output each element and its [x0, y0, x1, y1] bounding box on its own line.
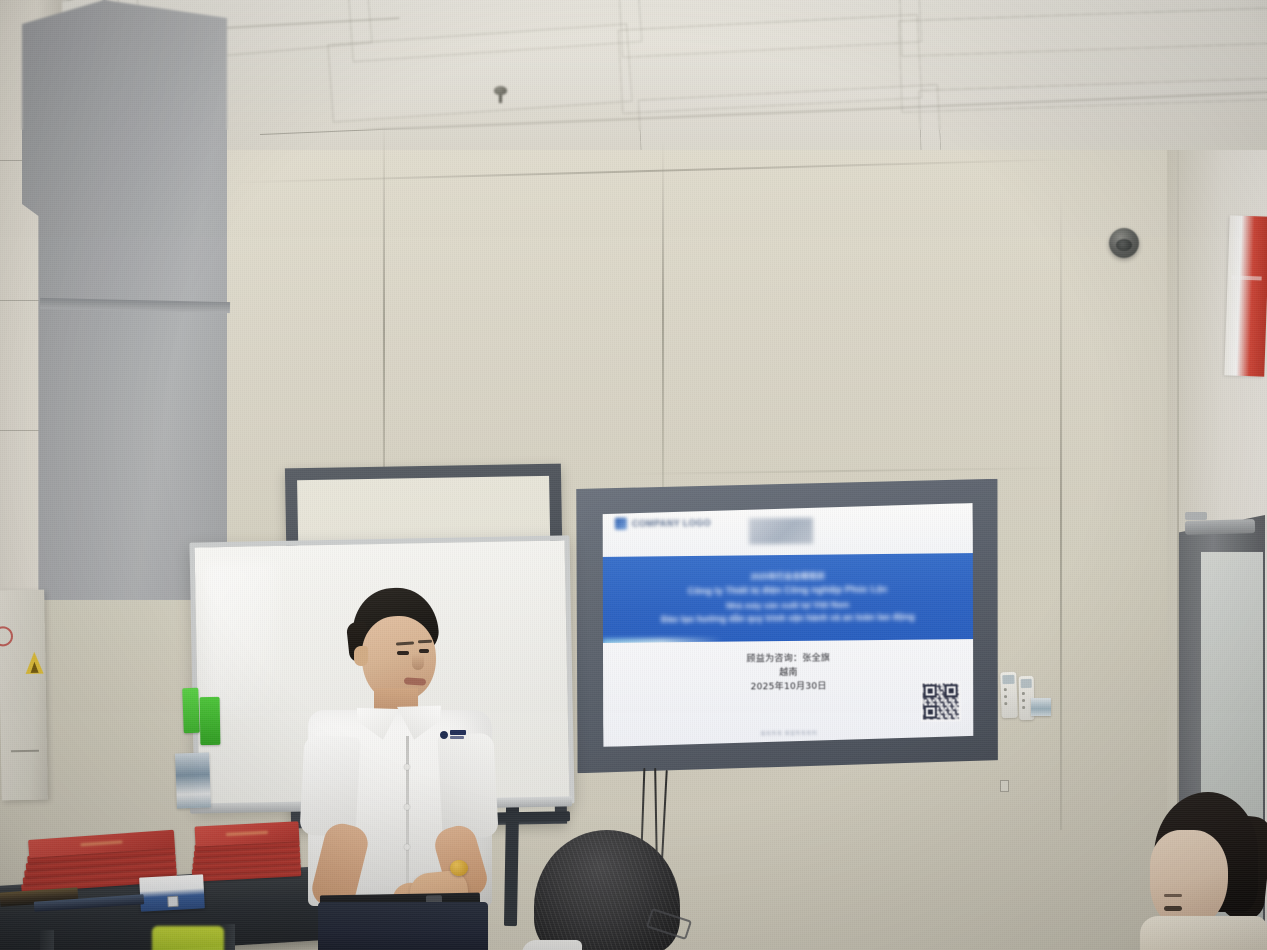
- wall-seam: [1060, 190, 1062, 830]
- presenter-eye: [397, 651, 409, 655]
- sprinkler-head: [494, 86, 507, 103]
- wall-poster: [1224, 215, 1267, 376]
- green-magnet[interactable]: [182, 688, 200, 734]
- slide-footer-note: 版权所有 保留所有权利: [603, 728, 975, 739]
- slide-location-line: 越南: [779, 667, 798, 681]
- attendee-right-eye: [1164, 906, 1182, 911]
- attendee-right-face: [1150, 830, 1228, 926]
- door-closer: [1185, 519, 1255, 535]
- ac-remote[interactable]: [1000, 672, 1018, 719]
- slide-body: 顾益为咨询：张全旗 越南 2025年10月30日 版权所有 保留所有权利: [602, 639, 975, 747]
- presenter-eye: [419, 649, 429, 653]
- green-magnet[interactable]: [200, 697, 221, 745]
- attendee-center: [522, 830, 692, 950]
- whiteboard-glare: [205, 562, 278, 713]
- slide-date-line: 2025年10月30日: [751, 680, 827, 695]
- slide-presenter-line: 顾益为咨询：张全旗: [746, 653, 830, 668]
- binder-clip: [167, 895, 179, 907]
- presenter-nose: [412, 654, 424, 670]
- red-marker-icon: [0, 626, 13, 646]
- table-leg: [40, 930, 54, 950]
- presenter-mouth: [404, 677, 426, 686]
- presenter-sleeve-right: [437, 733, 498, 840]
- presenter-brow: [418, 640, 432, 643]
- slide-banner-line-2: Công ty Thiết bị điện Công nghiệp Phúc L…: [688, 584, 888, 598]
- white-blue-binder[interactable]: [139, 874, 205, 911]
- wall-mounted-display[interactable]: COMPANY LOGO 2025年行业合规培训 Công ty Thiết b…: [574, 479, 1000, 773]
- shirt-button: [404, 764, 410, 770]
- slide-banner-line-1: 2025年行业合规培训: [751, 571, 825, 582]
- display-screen[interactable]: COMPANY LOGO 2025年行业合规培训 Công ty Thiết b…: [601, 503, 975, 747]
- attendee-right-brow: [1164, 894, 1182, 897]
- panel-slit: [11, 750, 39, 752]
- attendee-right-top: [1140, 916, 1267, 950]
- qr-code: [921, 681, 961, 721]
- shirt-button: [404, 804, 410, 810]
- electrical-box: [0, 590, 48, 801]
- dome-security-camera: [1109, 228, 1139, 258]
- slide-logo: COMPANY LOGO: [615, 517, 711, 530]
- green-bag: [152, 926, 224, 950]
- slide-title-banner: 2025年行业合规培训 Công ty Thiết bị điện Công n…: [601, 553, 974, 643]
- held-object: [450, 860, 468, 876]
- red-folder-stack-right[interactable]: [188, 819, 303, 887]
- pinned-paper: [175, 752, 211, 808]
- door-hinge: [1185, 512, 1207, 520]
- wall-seam: [662, 140, 664, 490]
- slide-banner-line-4: Đào tạo hướng dẫn quy trình vận hành và …: [661, 612, 915, 626]
- whiteboard-stand-leg: [504, 806, 519, 926]
- presenter-sleeve-left: [299, 735, 360, 838]
- slide-banner-line-3: Nhà máy sản xuất tại Việt Nam: [726, 599, 849, 611]
- attendee-right: [1140, 792, 1267, 950]
- shirt-company-logo: [440, 730, 466, 741]
- shirt-button: [404, 844, 410, 850]
- power-socket: [1000, 780, 1009, 792]
- attendee-center-shoulder: [522, 940, 582, 950]
- attendee-center-head: [534, 830, 680, 950]
- presenter-shirt-placket: [406, 736, 409, 896]
- presentation-slide: COMPANY LOGO 2025年行业合规培训 Công ty Thiết b…: [601, 503, 975, 747]
- presenter-ear: [354, 646, 368, 666]
- slide-logo-text: COMPANY LOGO: [632, 518, 711, 529]
- slide-secondary-logo: [749, 518, 813, 545]
- photo-scene: COMPANY LOGO 2025年行业合规培训 Công ty Thiết b…: [0, 0, 1267, 950]
- warning-triangle-inner: [30, 662, 38, 673]
- wall-card: [1031, 698, 1051, 716]
- presenter: [300, 588, 500, 950]
- presenter-trousers: [318, 902, 488, 950]
- logo-mark-icon: [615, 518, 627, 530]
